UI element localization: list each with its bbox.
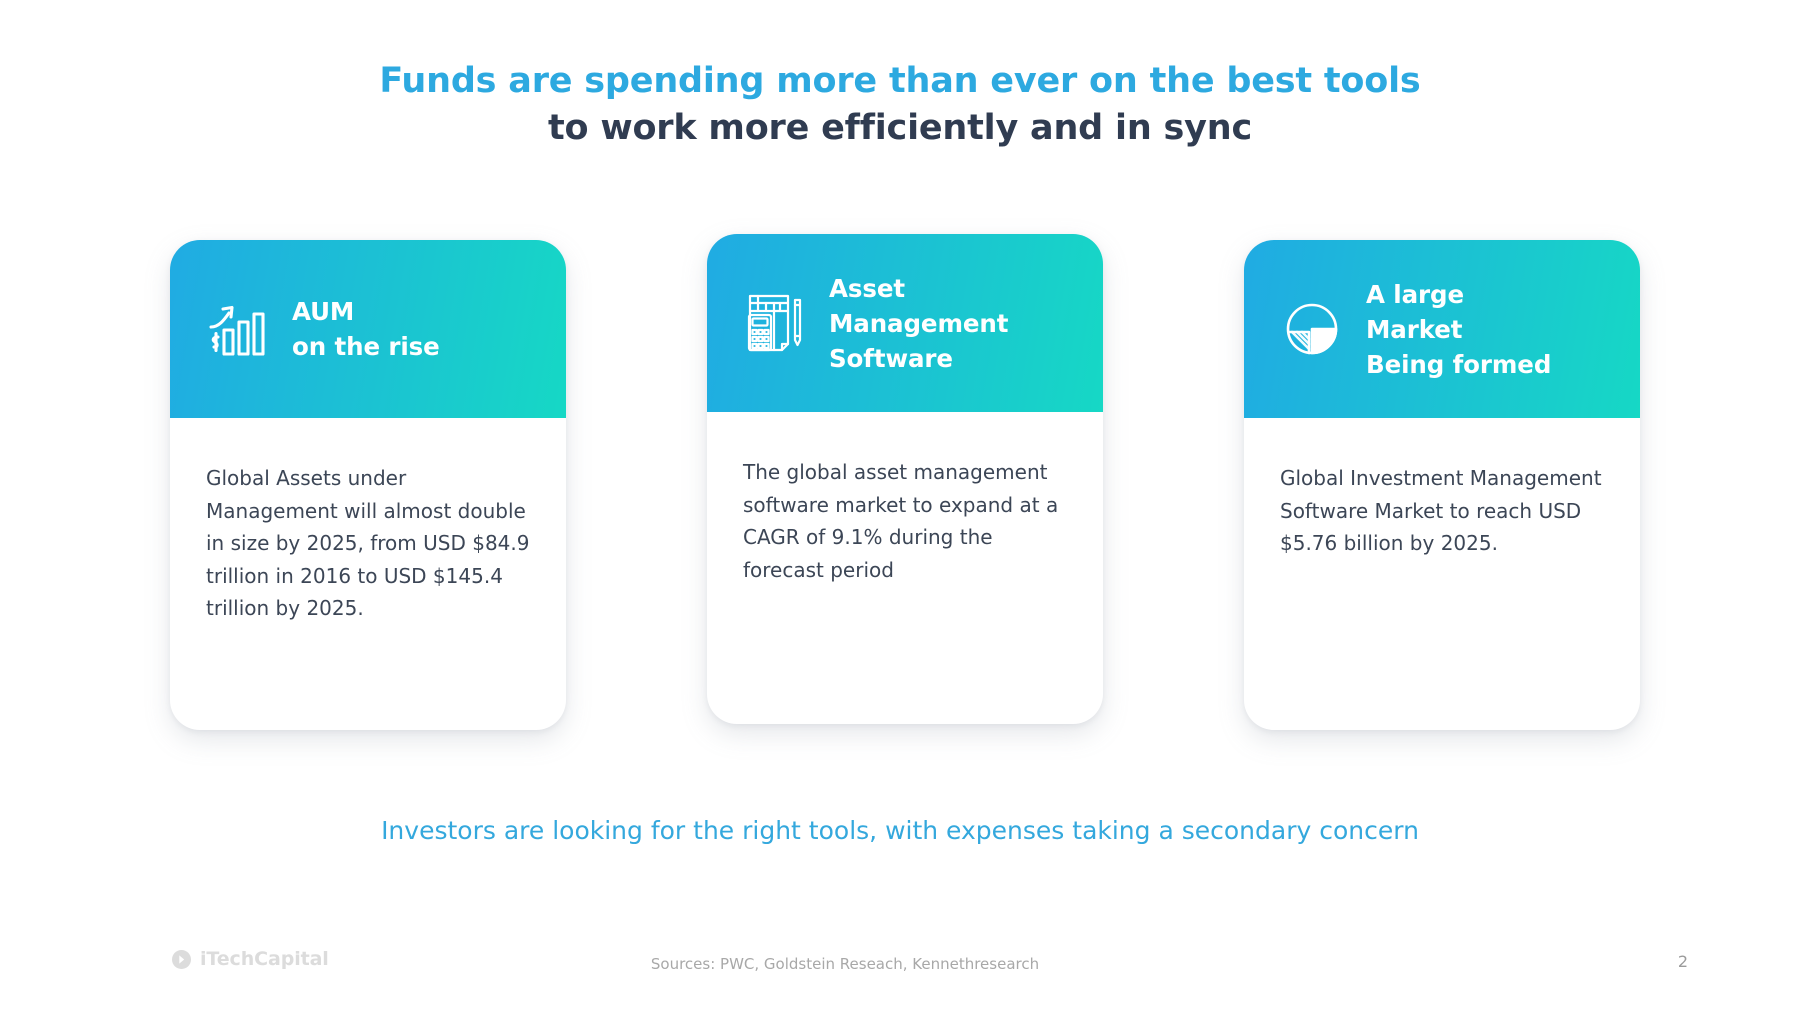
card-heading: A large Market Being formed [1366, 277, 1551, 382]
card-header: Asset Management Software [707, 234, 1103, 412]
spreadsheet-calculator-pencil-icon [743, 291, 807, 355]
card-asset-management-software[interactable]: Asset Management Software The global ass… [707, 234, 1103, 724]
page-title: Funds are spending more than ever on the… [0, 58, 1800, 152]
card-body-text: Global Investment Management Software Ma… [1280, 462, 1604, 560]
card-header: AUM on the rise [170, 240, 566, 418]
card-a-large-market-being-formed[interactable]: A large Market Being formed Global Inves… [1244, 240, 1640, 730]
title-line-1: Funds are spending more than ever on the… [0, 58, 1800, 105]
card-body-text: The global asset management software mar… [743, 456, 1067, 586]
card-heading: Asset Management Software [829, 271, 1008, 376]
page-number: 2 [1678, 952, 1688, 971]
pie-chart-icon [1280, 297, 1344, 361]
card-heading-line: Being formed [1366, 347, 1551, 382]
sources-note: Sources: PWC, Goldstein Reseach, Kenneth… [0, 955, 1690, 973]
card-heading-line: A large [1366, 277, 1551, 312]
card-heading: AUM on the rise [292, 294, 440, 364]
card-group: AUM on the rise Global Assets under Mana… [170, 240, 1640, 730]
card-aum-on-the-rise[interactable]: AUM on the rise Global Assets under Mana… [170, 240, 566, 730]
card-body-text: Global Assets under Management will almo… [206, 462, 530, 625]
card-header: A large Market Being formed [1244, 240, 1640, 418]
card-heading-line: AUM [292, 294, 440, 329]
card-heading-line: Management [829, 306, 1008, 341]
card-body: Global Assets under Management will almo… [170, 418, 566, 625]
slide-canvas: Funds are spending more than ever on the… [0, 0, 1800, 1012]
card-body: Global Investment Management Software Ma… [1244, 418, 1640, 560]
tagline: Investors are looking for the right tool… [300, 812, 1500, 849]
card-heading-line: Market [1366, 312, 1551, 347]
card-heading-line: on the rise [292, 329, 440, 364]
title-line-2: to work more efficiently and in sync [0, 105, 1800, 152]
card-heading-line: Asset [829, 271, 1008, 306]
card-heading-line: Software [829, 341, 1008, 376]
card-body: The global asset management software mar… [707, 412, 1103, 586]
bar-chart-growth-dollar-icon [206, 297, 270, 361]
